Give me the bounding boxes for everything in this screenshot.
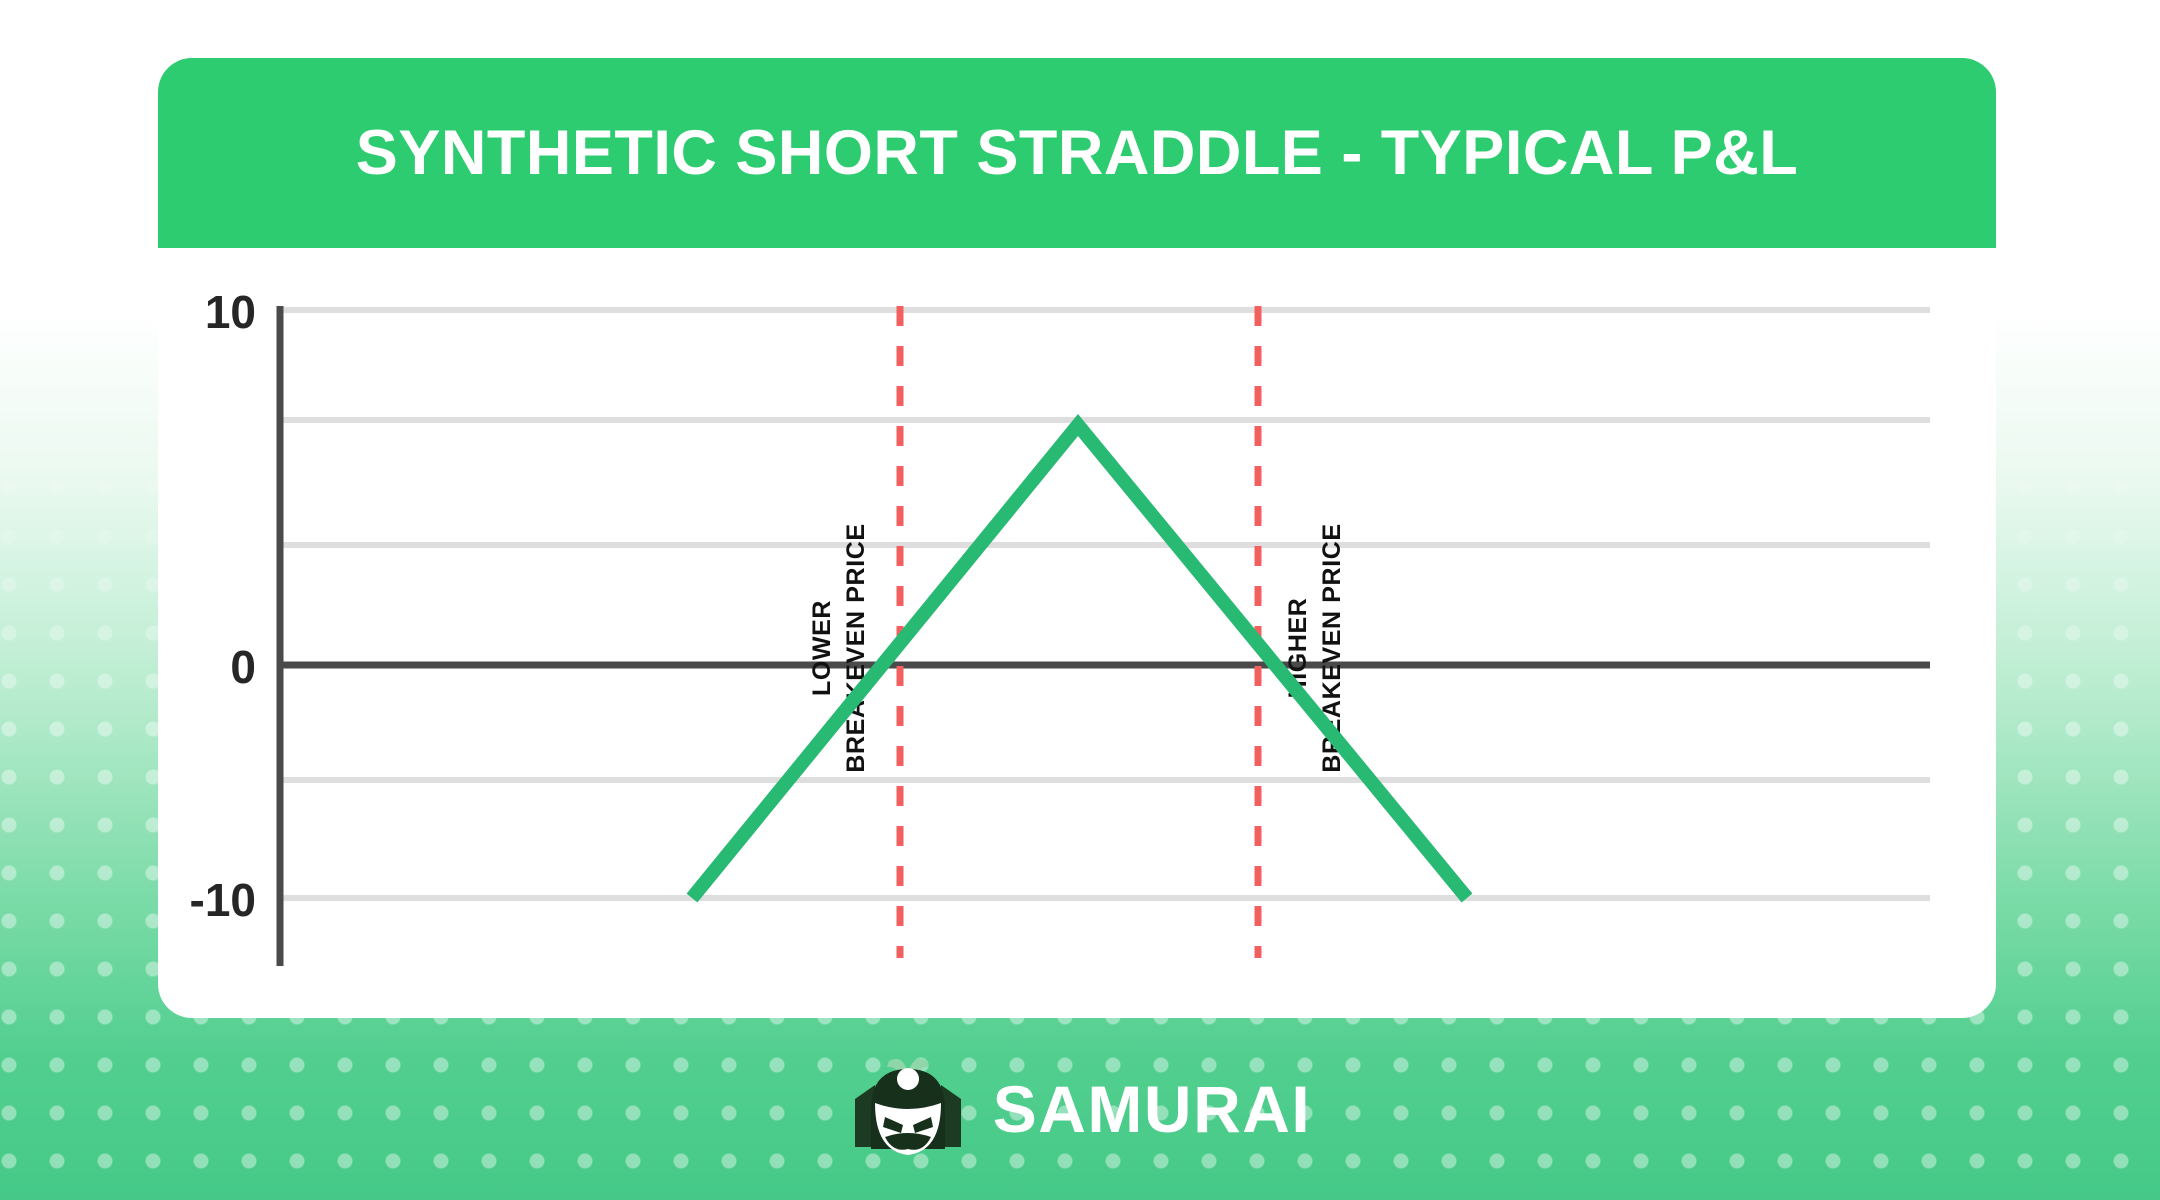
payoff-chart-svg: 10 0 -10 LOWER BREAKEVEN PRICE HIGHER BR…: [158, 248, 1996, 1018]
ytick-label-0: 0: [230, 641, 256, 693]
ytick-label-neg10: -10: [190, 874, 256, 926]
brand-name: SAMURAI: [993, 1076, 1312, 1142]
lower-breakeven-label-line2: BREAKEVEN PRICE: [842, 523, 870, 772]
lower-breakeven-label-2: BREAKEVEN PRICE: [842, 523, 870, 772]
gridlines: [278, 310, 1930, 898]
card-header-band: SYNTHETIC SHORT STRADDLE - TYPICAL P&L: [158, 58, 1996, 248]
plot-area: 10 0 -10 LOWER BREAKEVEN PRICE HIGHER BR…: [158, 248, 1996, 1018]
lower-breakeven-label-line1: LOWER: [808, 600, 836, 696]
lower-breakeven-label: LOWER: [808, 600, 836, 696]
ytick-label-10: 10: [205, 286, 256, 338]
brand-footer: SAMURAI: [0, 1018, 2160, 1200]
chart-title: SYNTHETIC SHORT STRADDLE - TYPICAL P&L: [356, 122, 1798, 185]
chart-card: SYNTHETIC SHORT STRADDLE - TYPICAL P&L 1…: [158, 58, 1996, 1018]
samurai-helmet-icon: [849, 1055, 967, 1163]
